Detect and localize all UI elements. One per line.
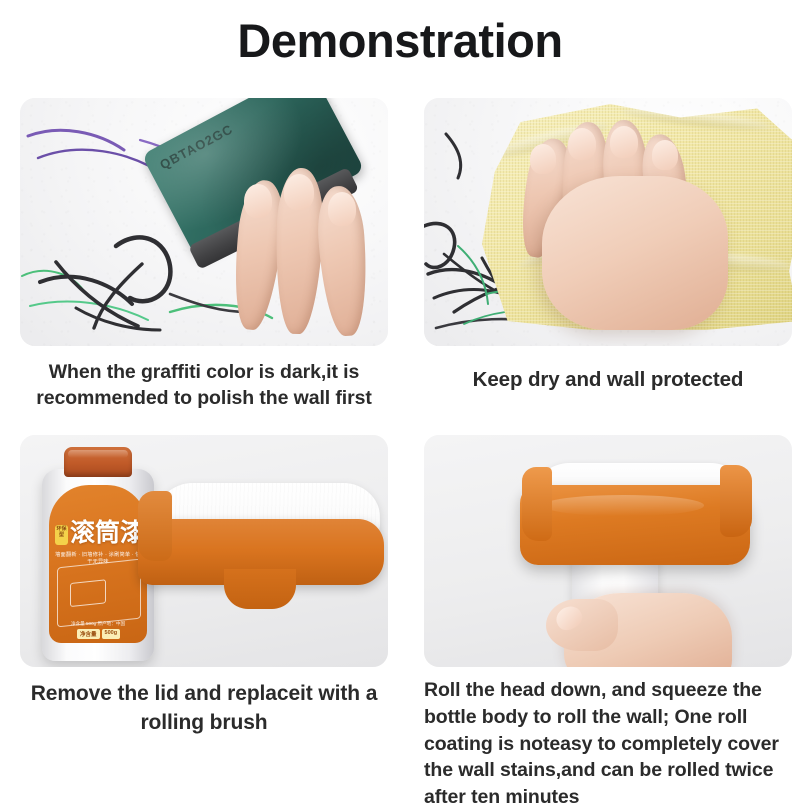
label-weight-value: 500g <box>102 629 121 639</box>
hand-squeezing-bottle <box>546 577 732 667</box>
panel-roll-wall-caption: Roll the head down, and squeeze the bott… <box>424 677 792 810</box>
roller-neck <box>224 569 296 609</box>
label-footer: 净含量 500g 原产地：中国 <box>55 621 141 627</box>
panel-roll-wall-photo <box>424 435 792 667</box>
hand-holding-sponge <box>228 164 378 346</box>
roller-brush <box>138 483 386 633</box>
label-weight-badge: 净含量 500g <box>77 629 120 639</box>
caption-line: coating is noteasy to completely cover <box>424 731 792 758</box>
roller-arm-right <box>720 465 752 537</box>
bottle-cap <box>64 447 132 477</box>
caption-line: the wall stains,and can be rolled twice <box>424 757 792 784</box>
panel-grid: QBTAO2GC When the graffiti color is dark… <box>20 98 792 810</box>
panel-keep-dry-caption: Keep dry and wall protected <box>424 366 792 393</box>
caption-line: Roll the head down, and squeeze the <box>424 677 792 704</box>
panel-polish-wall-photo: QBTAO2GC <box>20 98 388 346</box>
caption-line: after ten minutes <box>424 784 792 810</box>
palm <box>542 176 728 330</box>
thumb <box>546 599 618 651</box>
caption-line: bottle body to roll the wall; One roll <box>424 704 792 731</box>
panel-keep-dry: Keep dry and wall protected <box>424 98 792 411</box>
roller-arm-left <box>522 467 552 541</box>
panel-keep-dry-photo <box>424 98 792 346</box>
panel-polish-wall: QBTAO2GC When the graffiti color is dark… <box>20 98 388 411</box>
label-badge: 环保型 <box>55 525 68 545</box>
roller-arm-left <box>138 491 172 561</box>
label-title: 滚筒漆 <box>70 521 145 546</box>
label-illustration <box>57 559 141 628</box>
demonstration-page: Demonstration <box>0 0 800 800</box>
panel-replace-lid: 环保型 滚筒漆 墙面翻新 · 旧墙修补 · 涂刷简单 · 快干无异味 净含量 5… <box>20 435 388 810</box>
hand-wiping-wall <box>520 116 750 330</box>
panel-replace-lid-photo: 环保型 滚筒漆 墙面翻新 · 旧墙修补 · 涂刷简单 · 快干无异味 净含量 5… <box>20 435 388 667</box>
panel-replace-lid-caption: Remove the lid and replaceit with a roll… <box>20 680 388 738</box>
roller-frame <box>520 485 750 565</box>
panel-polish-wall-caption: When the graffiti color is dark,it is re… <box>20 360 388 411</box>
panel-row-top: QBTAO2GC When the graffiti color is dark… <box>20 98 792 411</box>
label-weight-tag: 净含量 <box>77 629 100 639</box>
page-title: Demonstration <box>0 14 800 68</box>
panel-row-bottom: 环保型 滚筒漆 墙面翻新 · 旧墙修补 · 涂刷简单 · 快干无异味 净含量 5… <box>20 435 792 810</box>
product-label: 环保型 滚筒漆 墙面翻新 · 旧墙修补 · 涂刷简单 · 快干无异味 净含量 5… <box>49 485 147 643</box>
panel-roll-wall: Roll the head down, and squeeze the bott… <box>424 435 792 810</box>
roller-head-in-use <box>520 463 752 593</box>
